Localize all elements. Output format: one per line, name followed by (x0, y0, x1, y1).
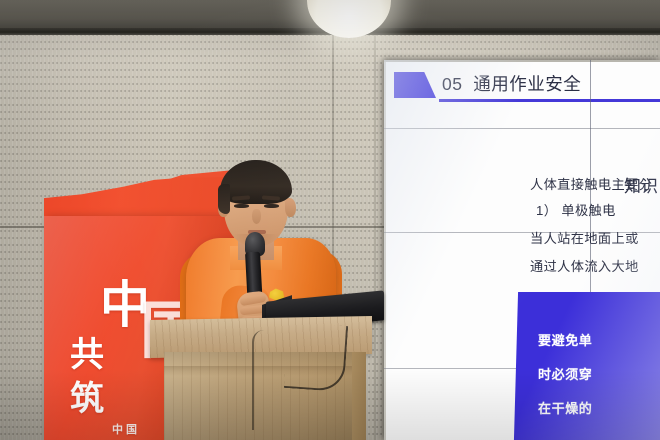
slide-callout-line: 时必须穿 (538, 364, 592, 383)
speaker-ear (285, 198, 296, 217)
wall-panel-seam-vertical (374, 34, 376, 440)
banner-small-text: 中国 (112, 424, 140, 435)
screen-top-edge (384, 60, 660, 62)
speaker-eye (234, 204, 249, 208)
presentation-photo: 05 通用作业安全 知识 人体直接触电主要分 1） 单极触电 当人站在地面上或 … (0, 0, 660, 440)
slide-title-underline (439, 99, 660, 102)
slide-section-title: 通用作业安全 (473, 74, 581, 94)
screen-left-edge (384, 60, 386, 440)
slide-section-heading: 05 通用作业安全 (442, 71, 581, 96)
slide-body-line: 通过人体流入大地 (530, 256, 639, 275)
podium-side-edge (352, 352, 366, 440)
slide-body-line: 人体直接触电主要分 (530, 174, 652, 193)
microphone-cable (252, 330, 294, 430)
speaker-eye (264, 204, 279, 208)
slide-callout-line: 在干燥的 (538, 398, 592, 417)
speaker-hair-side (218, 184, 230, 214)
slide-body-line: 当人站在地面上或 (530, 228, 639, 247)
slide-accent-wedge (394, 72, 436, 98)
screen-seam-line (384, 128, 660, 129)
slide-section-number: 05 (442, 74, 462, 94)
speaker-nose (252, 209, 261, 224)
banner-character: 筑 (70, 382, 104, 416)
slide-body-line: 1） 单极触电 (536, 200, 616, 219)
slide-callout-line: 要避免单 (538, 330, 592, 349)
projection-screen: 05 通用作业安全 知识 人体直接触电主要分 1） 单极触电 当人站在地面上或 … (384, 60, 660, 440)
banner-character: 共 (70, 338, 104, 372)
